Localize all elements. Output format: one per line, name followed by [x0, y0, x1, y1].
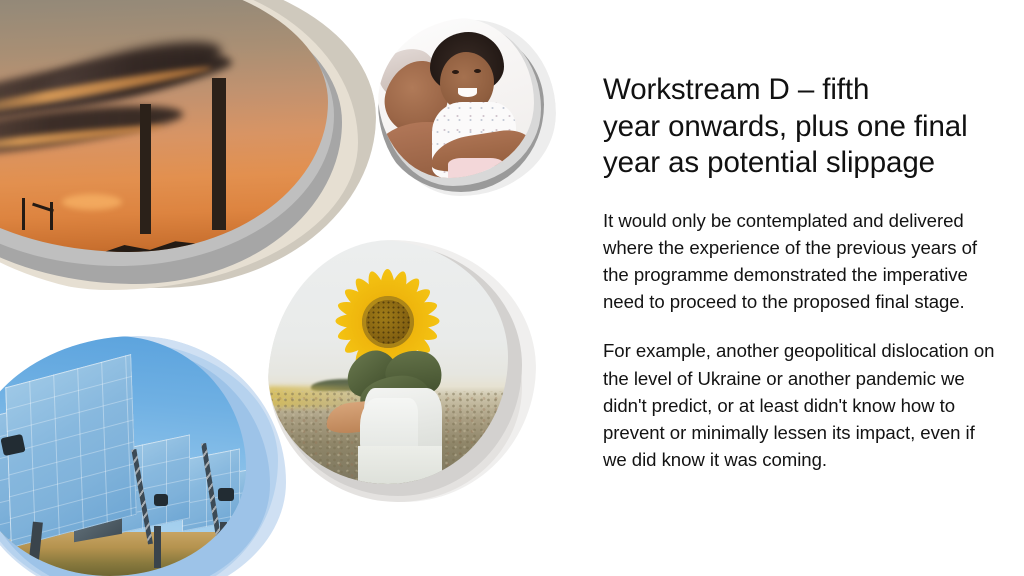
body-paragraph-1: It would only be contemplated and delive…	[603, 207, 995, 316]
crane-mast	[22, 198, 25, 230]
presentation-slide: Workstream D – fifth year onwards, plus …	[0, 0, 1024, 576]
smokestacks-photo	[0, 0, 328, 252]
chimney-stack	[140, 104, 151, 234]
image-solar-mirrors	[0, 336, 288, 576]
mirror-hub	[154, 494, 168, 506]
heliostat-mirror	[5, 354, 137, 548]
image-mother-and-child	[378, 18, 556, 198]
low-steam	[62, 194, 122, 210]
mirror-hub	[218, 488, 234, 501]
child-smile	[458, 88, 477, 97]
image-sunflower	[268, 240, 536, 508]
body-paragraph-2: For example, another geopolitical disloc…	[603, 337, 995, 473]
mirror-pedestal	[220, 522, 227, 566]
sunflower-disc	[362, 296, 414, 348]
text-column: Workstream D – fifth year onwards, plus …	[603, 72, 995, 473]
sunflower-photo	[268, 240, 508, 484]
person-skirt	[358, 446, 442, 484]
child-eye	[452, 70, 459, 74]
child-trousers	[448, 158, 504, 178]
crane-mast	[50, 202, 53, 230]
chimney-stack	[212, 78, 226, 230]
mirror-pedestal	[154, 526, 161, 568]
child-eye	[474, 69, 481, 73]
slide-body: It would only be contemplated and delive…	[603, 207, 995, 474]
mother-and-child-photo	[378, 18, 534, 178]
slide-title: Workstream D – fifth year onwards, plus …	[603, 72, 995, 182]
